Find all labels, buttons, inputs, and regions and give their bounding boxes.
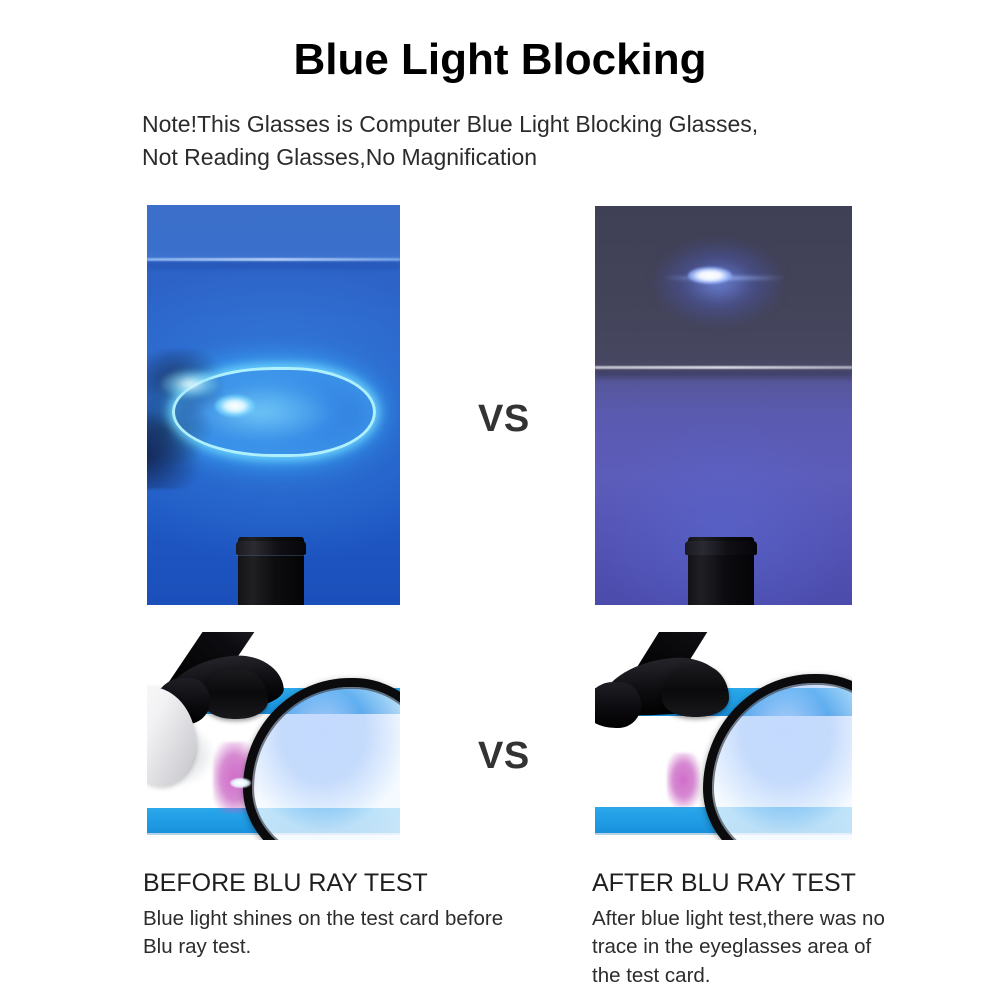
light-hotspot: [688, 267, 732, 284]
caption-before: BEFORE BLU RAY TEST Blue light shines on…: [143, 868, 543, 962]
glasses-bridge: [662, 665, 729, 717]
page-title: Blue Light Blocking: [0, 36, 1000, 84]
product-note: Note!This Glasses is Computer Blue Light…: [142, 108, 902, 173]
flashlight-bezel-ring: [236, 541, 307, 555]
product-note-line-2: Not Reading Glasses,No Magnification: [142, 141, 902, 174]
caption-after-line-1: After blue light test,there was no: [592, 905, 992, 933]
vs-separator-bottom: VS: [478, 735, 530, 778]
flashlight-light-spark: [230, 778, 250, 788]
ceiling-wall-seam: [147, 258, 400, 261]
blue-light-through-lens-photo: [147, 205, 400, 605]
caption-before-line-1: Blue light shines on the test card befor…: [143, 905, 543, 933]
caption-after-body: After blue light test,there was no trace…: [592, 905, 992, 990]
product-infographic: Blue Light Blocking Note!This Glasses is…: [0, 0, 1000, 1000]
caption-before-title: BEFORE BLU RAY TEST: [143, 868, 543, 898]
fluorescent-trace: [667, 753, 700, 807]
blue-light-on-wall-photo: [595, 206, 852, 605]
caption-after-line-2: trace in the eyeglasses area of: [592, 933, 992, 961]
caption-before-line-2: Blu ray test.: [143, 933, 543, 961]
glasses-bridge: [203, 669, 269, 719]
lens-specular-streak: [160, 369, 220, 399]
caption-after-title: AFTER BLU RAY TEST: [592, 868, 992, 898]
after-blu-ray-test-photo: [595, 632, 852, 840]
before-blu-ray-test-photo: [147, 632, 400, 840]
caption-after-line-3: the test card.: [592, 962, 992, 990]
ceiling-wall-seam: [595, 366, 852, 369]
glasses-endpiece: [595, 682, 641, 728]
ceiling-wall-seam-shadow: [595, 371, 852, 381]
caption-after: AFTER BLU RAY TEST After blue light test…: [592, 868, 992, 990]
flashlight-bezel-ring: [685, 541, 757, 555]
product-note-line-1: Note!This Glasses is Computer Blue Light…: [142, 108, 902, 141]
caption-before-body: Blue light shines on the test card befor…: [143, 905, 543, 962]
ceiling-wall-seam-shadow: [147, 263, 400, 271]
vs-separator-top: VS: [478, 398, 530, 441]
